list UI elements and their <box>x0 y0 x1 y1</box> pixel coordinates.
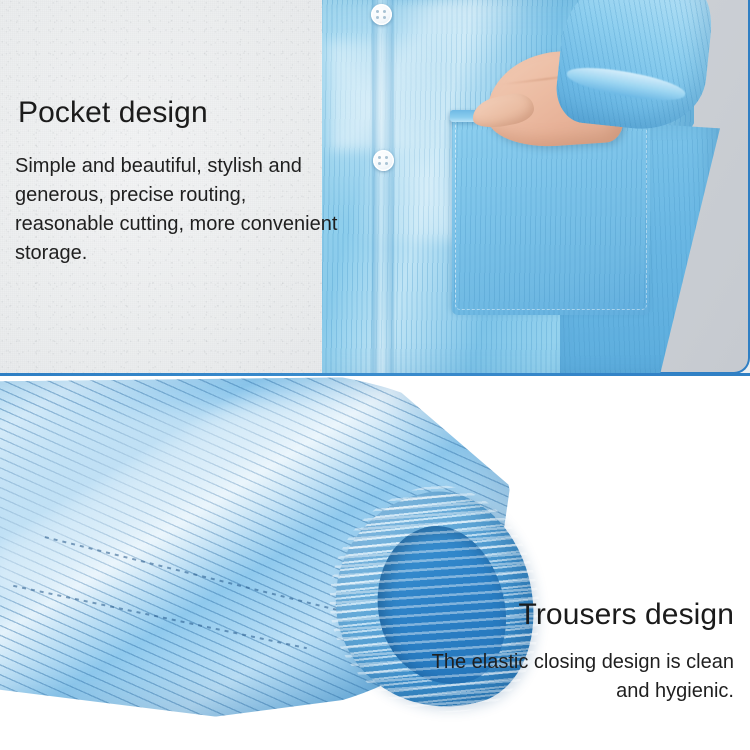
coat-button-upper <box>371 4 392 25</box>
pocket-design-heading: Pocket design <box>18 96 208 130</box>
trousers-design-heading: Trousers design <box>519 598 734 632</box>
product-feature-collage: Pocket design Simple and beautiful, styl… <box>0 0 750 750</box>
trousers-design-description: The elastic closing design is clean and … <box>394 648 734 706</box>
button-placket <box>372 0 394 374</box>
pocket-feature-panel: Pocket design Simple and beautiful, styl… <box>0 0 750 374</box>
coat-button-lower <box>373 150 394 171</box>
pocket-design-description: Simple and beautiful, stylish and genero… <box>15 152 345 268</box>
